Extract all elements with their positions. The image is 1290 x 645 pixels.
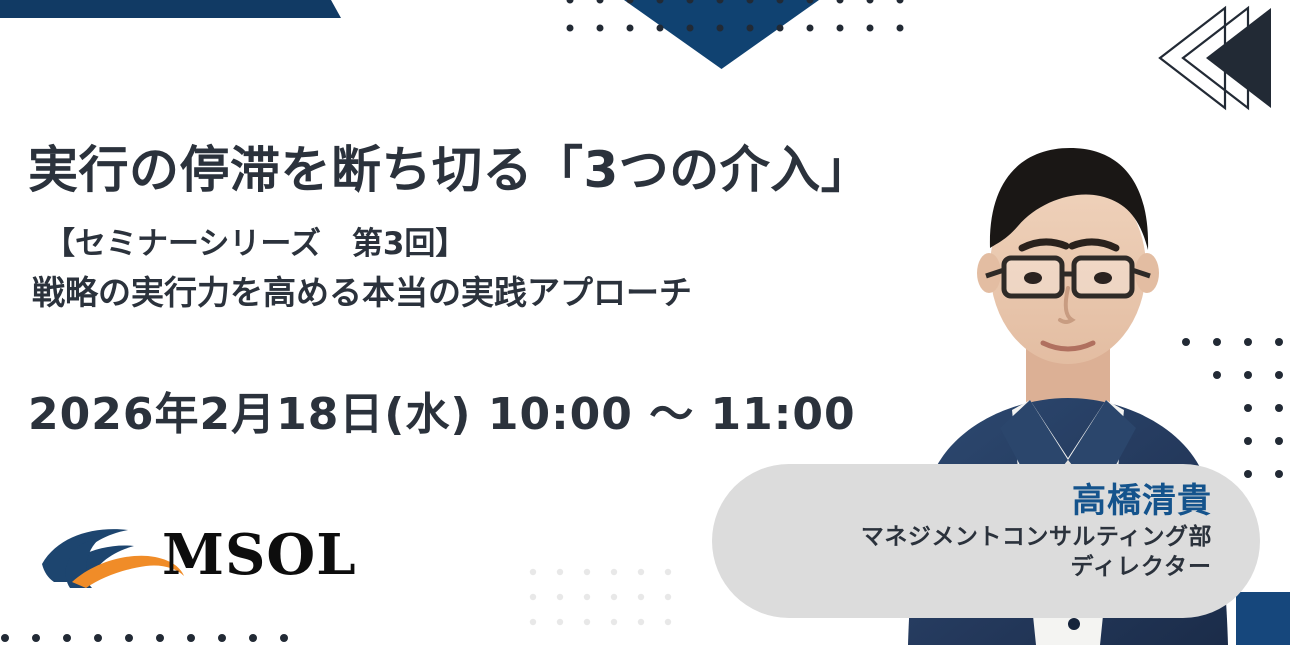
top-left-navy-band <box>0 0 341 18</box>
series-label: 【セミナーシリーズ 第3回】 <box>44 218 466 263</box>
event-datetime: 2026年2月18日(水) 10:00 〜 11:00 <box>28 378 856 442</box>
speaker-title: ディレクター <box>752 552 1212 583</box>
speaker-name: 高橋清貴 <box>752 480 1212 523</box>
seminar-banner: 実行の停滞を断ち切る「3つの介入」 【セミナーシリーズ 第3回】 戦略の実行力を… <box>0 0 1290 645</box>
bottom-right-navy-square <box>1236 592 1290 645</box>
subtitle-lead: 戦略の実行力を高める本当の実践アプローチ <box>32 266 692 314</box>
speaker-info-card: 高橋清貴 マネジメントコンサルティング部 ディレクター <box>712 464 1260 618</box>
top-center-down-chevron <box>624 0 819 69</box>
speaker-department: マネジメントコンサルティング部 <box>752 523 1212 553</box>
bottom-center-dot-grid <box>528 566 678 630</box>
page-title: 実行の停滞を断ち切る「3つの介入」 <box>28 130 871 202</box>
bottom-left-dot-row <box>0 630 290 645</box>
msol-wordmark: MSOL <box>162 522 357 588</box>
